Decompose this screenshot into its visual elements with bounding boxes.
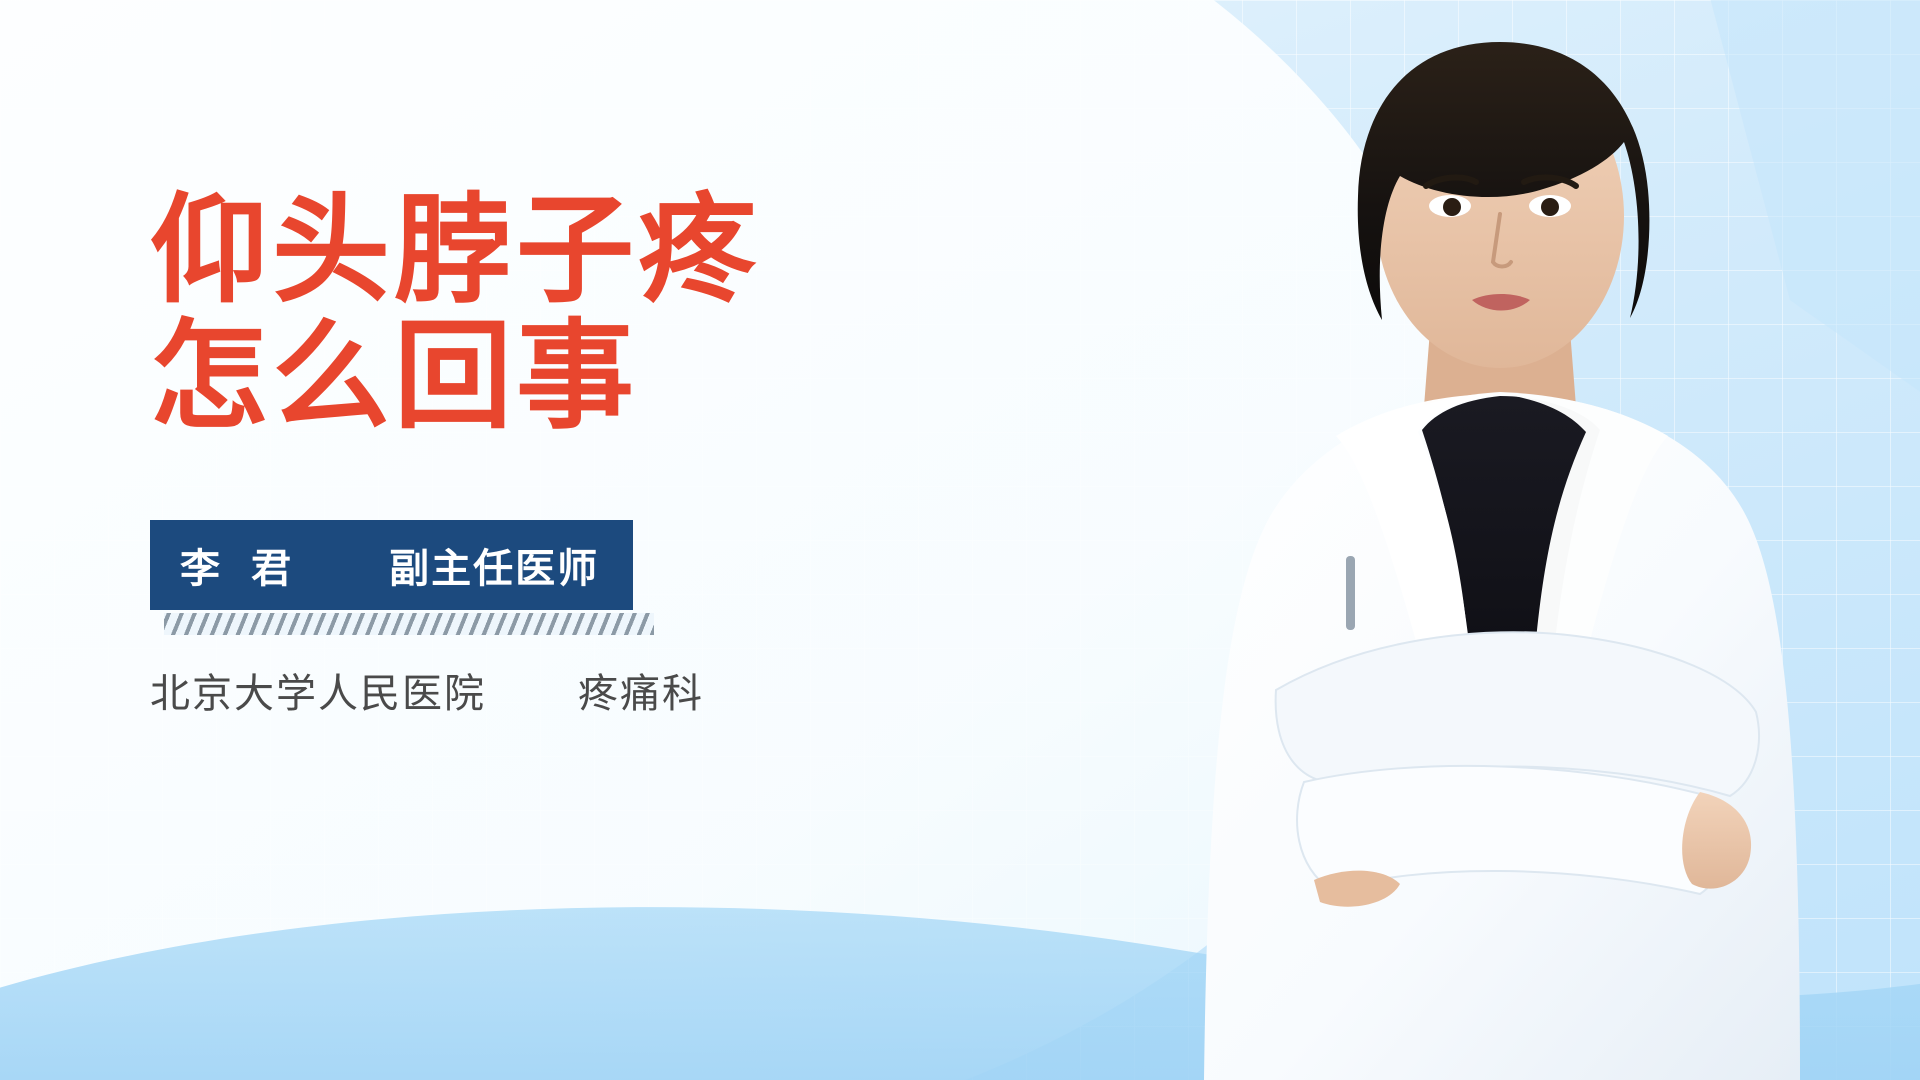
title-line-2: 怎么回事 — [150, 314, 760, 440]
pupil-left — [1443, 198, 1461, 216]
hospital-name: 北京大学人民医院 — [150, 661, 486, 719]
doctor-rank: 副主任医师 — [389, 536, 599, 594]
name-badge: 李 君 副主任医师 — [150, 520, 633, 610]
pupil-right — [1541, 198, 1559, 216]
department-name: 疼痛科 — [578, 661, 704, 719]
video-title: 仰头脖子疼 怎么回事 — [150, 188, 760, 441]
doctor-credentials: 李 君 副主任医师 北京大学人民医院 疼痛科 — [150, 520, 704, 719]
doctor-portrait — [1100, 0, 1920, 1080]
doctor-name: 李 君 — [180, 536, 301, 594]
thumbnail-canvas: 仰头脖子疼 怎么回事 李 君 副主任医师 北京大学人民医院 疼痛科 — [0, 0, 1920, 1080]
striped-divider — [164, 613, 654, 635]
pen-icon — [1346, 556, 1355, 630]
title-line-1: 仰头脖子疼 — [150, 188, 760, 314]
affiliation-line: 北京大学人民医院 疼痛科 — [150, 661, 704, 719]
